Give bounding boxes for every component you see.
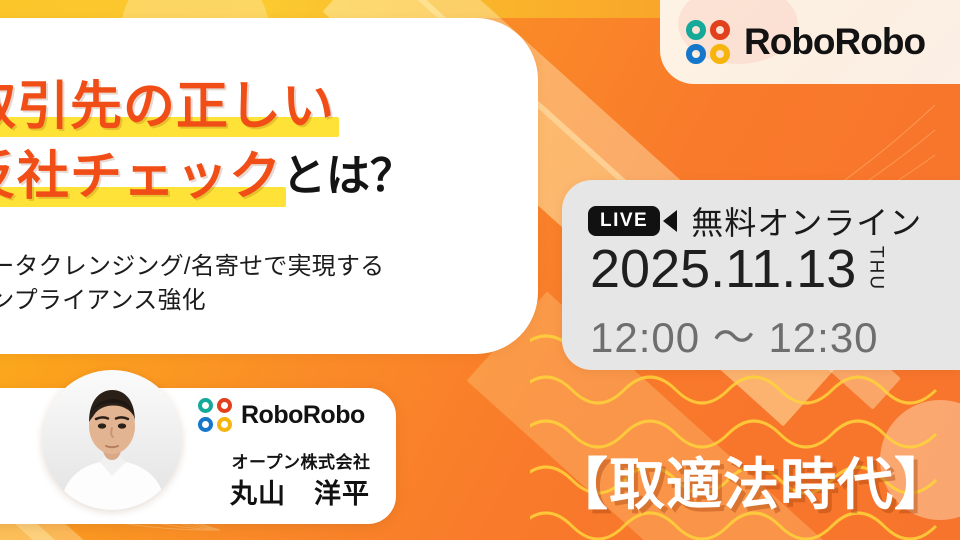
highlight-wrap: 取引先の正しい (0, 64, 335, 139)
headline-line-2-tail: とは？ (282, 152, 414, 201)
speaker-avatar (42, 370, 182, 510)
ring-blue-icon (686, 44, 706, 64)
ring-green-icon (686, 20, 706, 40)
triangle-left-icon (663, 210, 677, 232)
headline-line-1: 取引先の正しい (0, 64, 484, 130)
speaker-name: 丸山 洋平 (200, 472, 400, 511)
event-time-range: 12:00 ～ 12:30 (590, 304, 879, 365)
ring-red-icon (710, 20, 730, 40)
headline-panel: 取引先の正しい 反社チェック とは？ データクレンジング/名寄せで実現する コン… (0, 18, 538, 354)
speaker-photo (42, 370, 182, 510)
ring-yellow-icon (710, 44, 730, 64)
subtitle-line-2: コンプライアンス強化 (0, 284, 486, 318)
subtitle-line-1: データクレンジング/名寄せで実現する (0, 250, 486, 284)
headline-line-2-highlight: 反社チェック (0, 148, 282, 206)
event-date: 2025.11.13 (590, 242, 856, 296)
headline-line-2: 反社チェック とは？ (0, 134, 484, 200)
subtitle: データクレンジング/名寄せで実現する コンプライアンス強化 (0, 250, 486, 318)
webinar-banner: 取引先の正しい 反社チェック とは？ データクレンジング/名寄せで実現する コン… (0, 0, 960, 540)
headline-title: 取引先の正しい 反社チェック とは？ (0, 64, 484, 204)
kicker-text: 【取適法時代】 (552, 440, 951, 521)
live-row: LIVE 無料オンライン (588, 198, 922, 244)
event-day-of-week: THU (864, 246, 886, 291)
event-date-row: 2025.11.13 THU (590, 242, 886, 296)
highlight-wrap: 反社チェック (0, 134, 282, 209)
ring-green-icon (198, 398, 213, 413)
ring-red-icon (217, 398, 232, 413)
event-format-label: 無料オンライン (691, 198, 922, 244)
roborobo-logo-icon (686, 20, 730, 64)
ring-blue-icon (198, 417, 213, 432)
ring-yellow-icon (217, 417, 232, 432)
brand-name: RoboRobo (744, 21, 925, 63)
event-info-card: LIVE 無料オンライン 2025.11.13 THU 12:00 ～ 12:3… (562, 180, 960, 370)
roborobo-logo-icon (198, 398, 232, 432)
headline-line-1-text: 取引先の正しい (0, 78, 335, 136)
speaker-brand-logo: RoboRobo (198, 398, 365, 432)
live-badge: LIVE (588, 206, 660, 236)
brand-logo-chip: RoboRobo (660, 0, 960, 84)
speaker-company: オープン株式会社 (206, 448, 396, 473)
speaker-brand-name: RoboRobo (241, 401, 365, 430)
